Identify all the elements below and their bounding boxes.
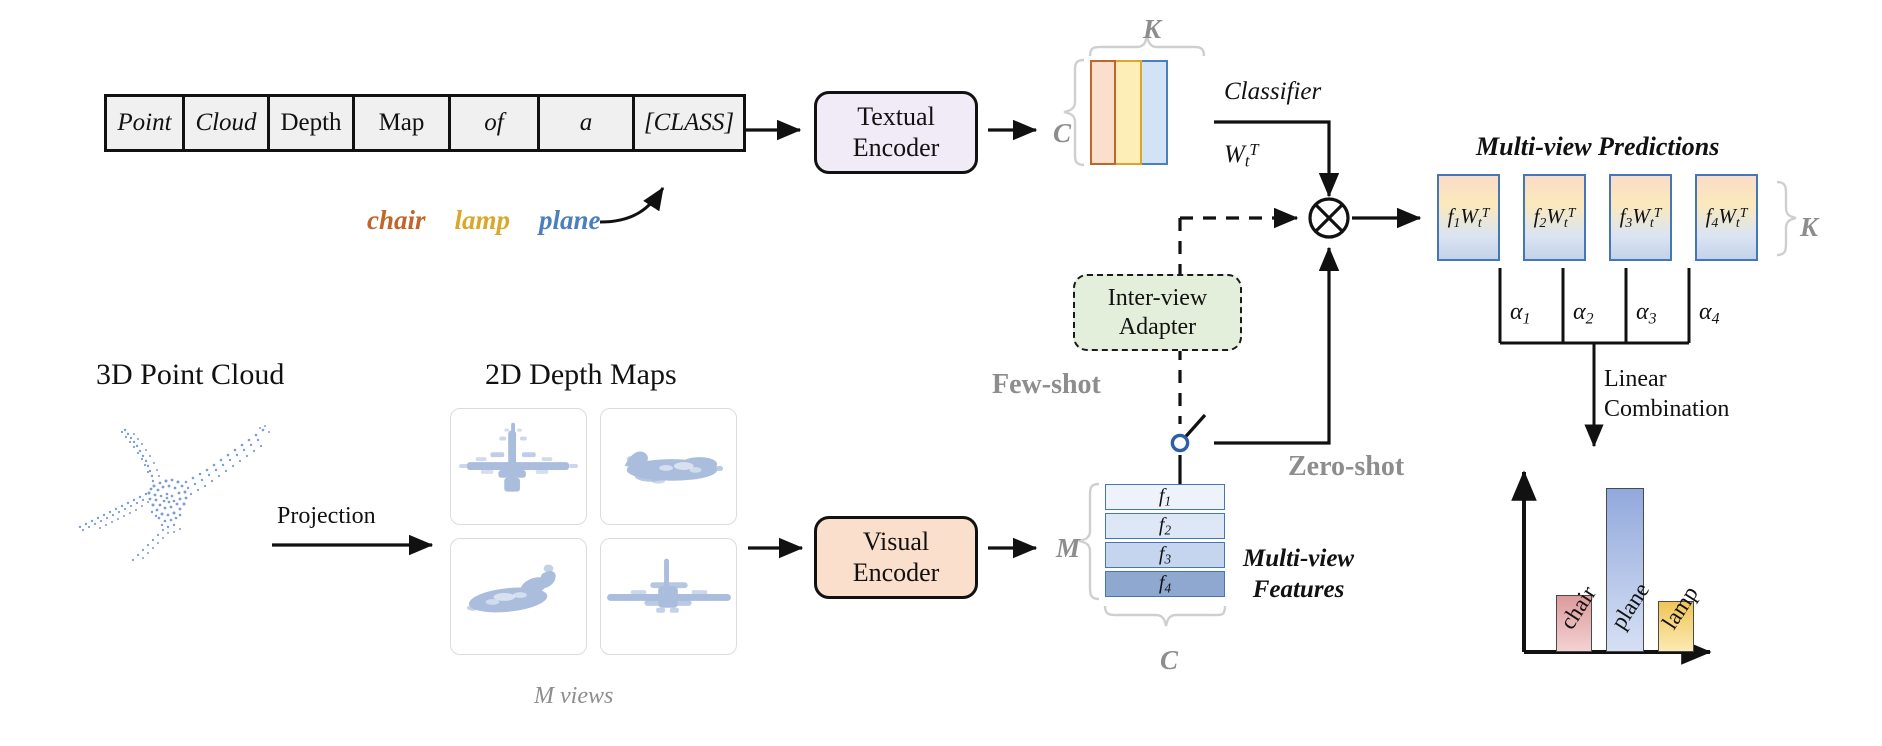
zero-shot-label: Zero-shot (1288, 451, 1404, 483)
weight-sup-T: T (1249, 140, 1258, 159)
alpha2-sub: 2 (1586, 310, 1594, 327)
point-cloud-title: 3D Point Cloud (96, 358, 284, 392)
alpha4-sym: α (1699, 299, 1712, 325)
depth-map-tile-top-view (600, 538, 737, 655)
adapter-line1: Inter-view (1108, 284, 1207, 313)
depth-map-tile-oblique-view (450, 538, 587, 655)
multi-view-predictions-title: Multi-view Predictions (1476, 132, 1719, 162)
depth-maps-title: 2D Depth Maps (485, 358, 677, 392)
visual-encoder-box: Visual Encoder (814, 516, 978, 599)
brace-features-C (1105, 606, 1225, 626)
prompt-token-5: a (540, 97, 635, 149)
alpha4-sub: 4 (1712, 310, 1720, 327)
inter-view-adapter-box[interactable]: Inter-view Adapter (1073, 274, 1242, 351)
features-brace-label-C: C (1160, 645, 1178, 676)
few-shot-label: Few-shot (992, 369, 1101, 401)
visual-encoder-line1: Visual (853, 527, 940, 558)
classifier-weight-symbol: WtT (1224, 140, 1259, 172)
classifier-column-lamp (1116, 60, 1142, 165)
classifier-brace-label-K: K (1143, 14, 1161, 45)
class-word-list: chair lamp plane (367, 205, 601, 236)
prediction-box-3: f3WtT (1609, 174, 1672, 261)
alpha1-sym: α (1510, 299, 1523, 325)
multi-view-prediction-row: f1WtT f2WtT f3WtT f4WtT (1437, 174, 1758, 261)
weight-W: W (1224, 141, 1245, 168)
alpha2-sym: α (1573, 299, 1586, 325)
multi-view-feature-stack: f1 f2 f3 f4 (1105, 484, 1225, 597)
depth-maps-caption: M views (534, 683, 613, 710)
classifier-label: Classifier (1224, 78, 1321, 106)
linear-combination-label: Linear Combination (1604, 365, 1729, 425)
prompt-token-2: Depth (270, 97, 355, 149)
linear-comb-line1: Linear (1604, 365, 1729, 395)
alpha-label-3: α3 (1636, 299, 1657, 328)
depth-tile-4-svg (601, 539, 736, 654)
depth-tile-1-svg (451, 409, 586, 524)
prompt-token-4: of (451, 97, 540, 149)
alpha3-sym: α (1636, 299, 1649, 325)
feature-row-2: f2 (1105, 513, 1225, 539)
diagram-canvas: Point Cloud Depth Map of a [CLASS] chair… (0, 0, 1882, 746)
pred1-W: W (1460, 204, 1478, 228)
textual-encoder-line1: Textual (853, 102, 940, 133)
adapter-line2: Adapter (1108, 313, 1207, 342)
arrow-classwords-to-class-token (600, 188, 663, 222)
operator-multiply-icon (1310, 199, 1348, 237)
alpha-label-1: α1 (1510, 299, 1531, 328)
prediction-box-4: f4WtT (1695, 174, 1758, 261)
prediction-box-1: f1WtT (1437, 174, 1500, 261)
mvf-line2: Features (1243, 574, 1354, 605)
pred3-W: W (1632, 204, 1650, 228)
alpha-label-2: α2 (1573, 299, 1594, 328)
f3-sub: 3 (1164, 551, 1171, 566)
textual-encoder-line2: Encoder (853, 133, 940, 164)
prompt-template-table: Point Cloud Depth Map of a [CLASS] (104, 94, 746, 152)
feature-row-3: f3 (1105, 542, 1225, 568)
point-cloud-svg (68, 408, 288, 568)
projection-label: Projection (277, 503, 376, 530)
prompt-token-0: Point (107, 97, 185, 149)
alpha1-sub: 1 (1523, 310, 1531, 327)
prediction-box-2: f2WtT (1523, 174, 1586, 261)
f4-sub: 4 (1164, 580, 1171, 595)
depth-map-tile-side-view (600, 408, 737, 525)
brace-features-M (1079, 484, 1099, 599)
multi-view-features-label: Multi-view Features (1243, 543, 1354, 605)
feature-row-4: f4 (1105, 571, 1225, 597)
pred2-wsup: T (1568, 205, 1576, 220)
depth-map-grid (450, 408, 737, 655)
f1-sub: 1 (1164, 493, 1171, 508)
pred3-wsup: T (1654, 205, 1662, 220)
predictions-brace-label-K: K (1800, 212, 1818, 243)
prompt-token-1: Cloud (185, 97, 270, 149)
prompt-token-3: Map (355, 97, 451, 149)
depth-tile-2-svg (601, 409, 736, 524)
mvf-line1: Multi-view (1243, 543, 1354, 574)
switch-toggle[interactable] (1172, 415, 1205, 486)
pred1-wsup: T (1482, 205, 1490, 220)
pred2-W: W (1546, 204, 1564, 228)
textual-encoder-box: Textual Encoder (814, 91, 978, 174)
classifier-brace-label-C: C (1053, 118, 1071, 149)
feature-row-1: f1 (1105, 484, 1225, 510)
depth-tile-3-svg (451, 539, 586, 654)
depth-map-tile-front-view (450, 408, 587, 525)
f2-sub: 2 (1164, 522, 1171, 537)
point-cloud-airplane (68, 408, 288, 568)
features-brace-label-M: M (1056, 533, 1080, 564)
pred4-W: W (1718, 204, 1736, 228)
pred4-wsup: T (1740, 205, 1748, 220)
classifier-column-chair (1090, 60, 1116, 165)
alpha-label-4: α4 (1699, 299, 1720, 328)
classifier-column-plane (1142, 60, 1168, 165)
classifier-weight-matrix (1090, 60, 1168, 165)
class-word-chair: chair (367, 205, 426, 236)
class-word-lamp: lamp (455, 205, 511, 236)
alpha3-sub: 3 (1649, 310, 1657, 327)
linear-comb-line2: Combination (1604, 395, 1729, 425)
prompt-token-class: [CLASS] (635, 97, 743, 149)
class-word-plane: plane (539, 205, 601, 236)
brace-predictions-K (1777, 182, 1796, 255)
visual-encoder-line2: Encoder (853, 558, 940, 589)
brace-classifier-C (1064, 60, 1084, 165)
